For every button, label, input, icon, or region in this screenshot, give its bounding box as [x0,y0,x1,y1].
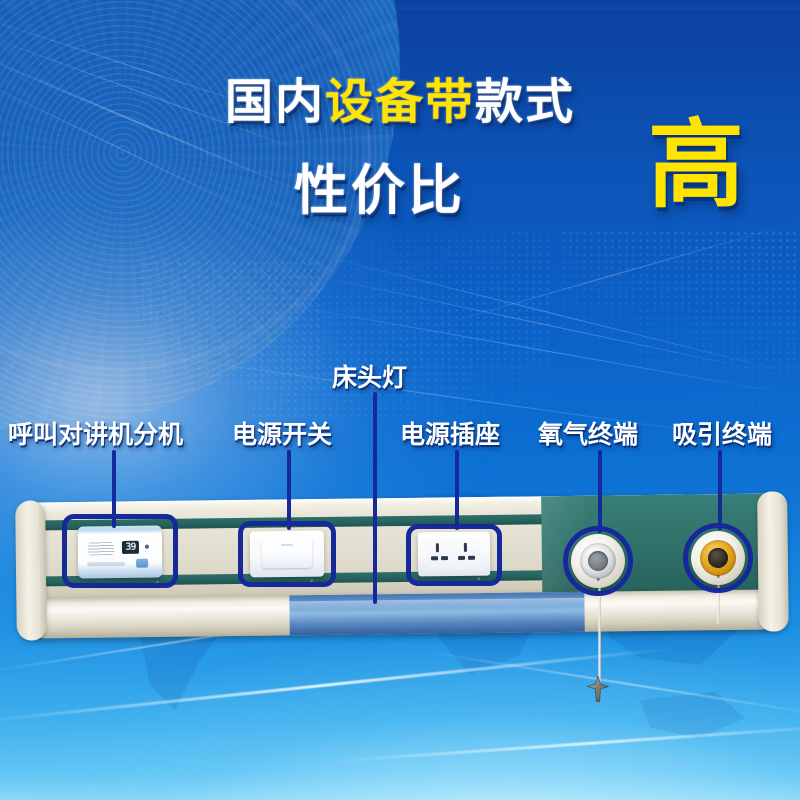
callout-label-suction-outlet: 吸引终端 [672,415,772,451]
poster-canvas: 国内设备带款式 性价比 高 呼叫对讲机分机 电源开关 床头灯 电源插座 氧气终端… [0,0,800,800]
callout-label-intercom: 呼叫对讲机分机 [8,415,183,451]
callout-label-power-socket: 电源插座 [400,415,500,451]
callout-label-bed-lamp: 床头灯 [332,358,407,394]
callout-label-oxygen-outlet: 氧气终端 [538,415,638,451]
callout-label-power-switch: 电源开关 [232,415,332,451]
callout-labels: 呼叫对讲机分机 电源开关 床头灯 电源插座 氧气终端 吸引终端 [0,0,800,800]
